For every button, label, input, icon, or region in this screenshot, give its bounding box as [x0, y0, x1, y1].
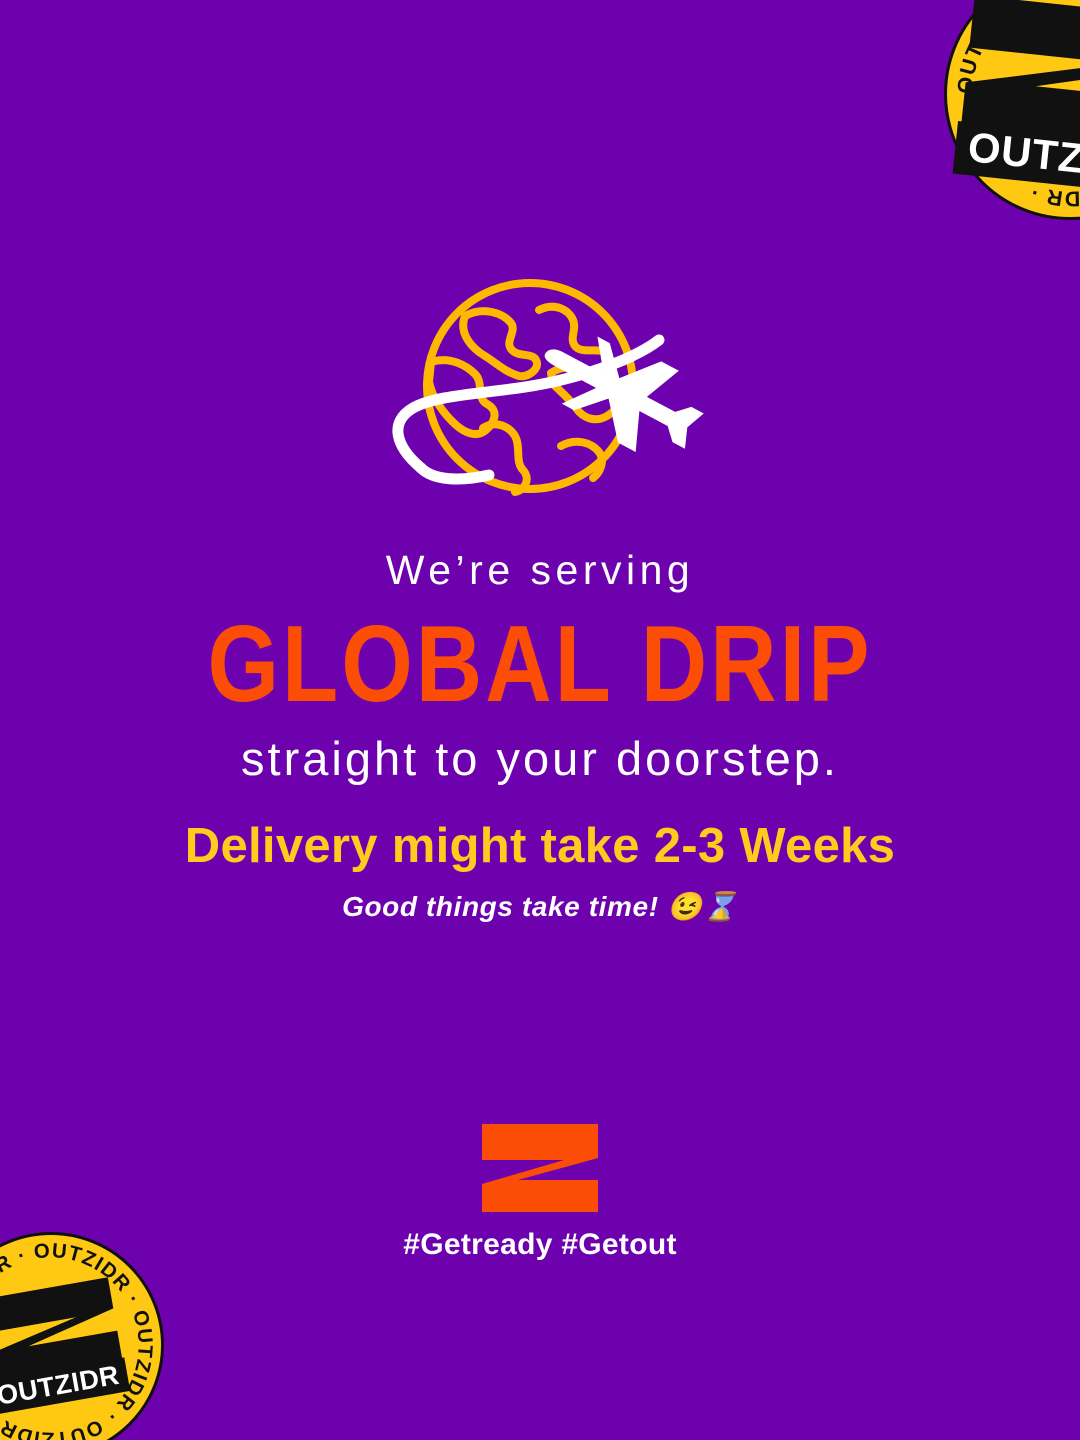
- outzidr-z-logo: [478, 1122, 602, 1214]
- badge-core-top-right: OUTZIDR: [953, 0, 1080, 196]
- outzidr-badge-top-right: OUTZIDR · OUTZIDR · OUTZIDR · OUTZIDR · …: [944, 0, 1080, 220]
- footer-block: #Getready #Getout: [0, 1122, 1080, 1262]
- eyebrow-text: We’re serving: [0, 548, 1080, 594]
- page-title: GLOBAL DRIP: [0, 610, 1080, 719]
- badge-core-bottom-left: OUTZIDR: [0, 1275, 130, 1416]
- globe-with-airplane-icon: [355, 270, 725, 520]
- delivery-tagline-text: Good things take time! 😉⌛: [0, 890, 1080, 924]
- subline-text: straight to your doorstep.: [0, 732, 1080, 786]
- hashtags-text: #Getready #Getout: [0, 1228, 1080, 1262]
- outzidr-badge-bottom-left: OUTZIDR · OUTZIDR · OUTZIDR · OUTZIDR · …: [0, 1232, 164, 1440]
- main-copy-block: We’re serving GLOBAL DRIP straight to yo…: [0, 548, 1080, 786]
- delivery-estimate-text: Delivery might take 2-3 Weeks: [0, 820, 1080, 874]
- delivery-note-block: Delivery might take 2-3 Weeks Good thing…: [0, 820, 1080, 923]
- promo-poster: We’re serving GLOBAL DRIP straight to yo…: [0, 0, 1080, 1440]
